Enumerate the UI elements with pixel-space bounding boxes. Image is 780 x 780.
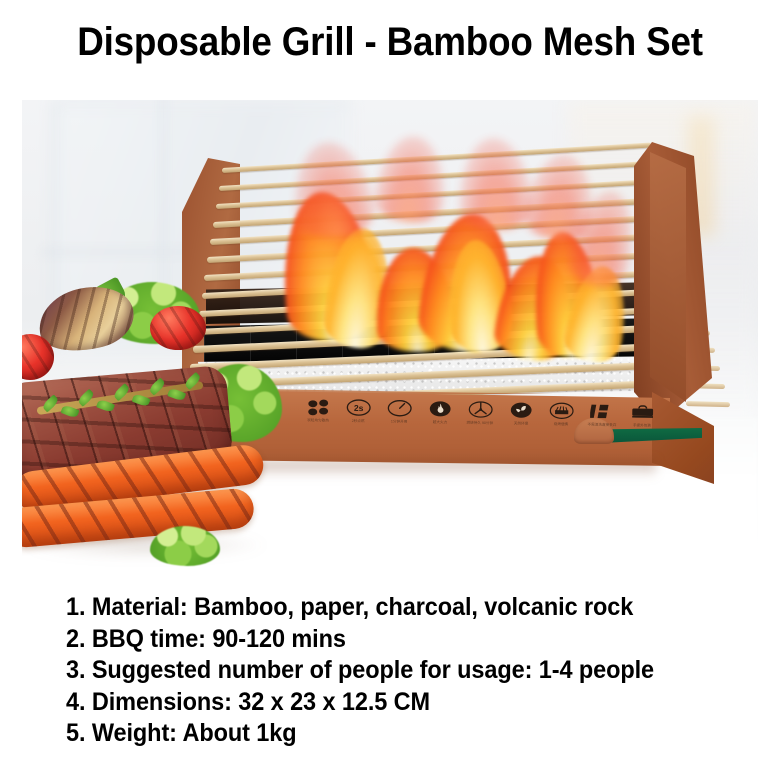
box-icon-cell: 2s2秒点燃 bbox=[340, 398, 376, 424]
page-title: Disposable Grill - Bamboo Mesh Set bbox=[31, 16, 749, 68]
specification-list: 1. Material: Bamboo, paper, charcoal, vo… bbox=[66, 592, 766, 750]
box-icon-caption: 不需清洗直接丢弃 bbox=[587, 423, 616, 428]
box-icon-cell: 不需清洗直接丢弃 bbox=[583, 402, 619, 428]
grill-icon bbox=[548, 401, 574, 420]
box-icon-cell: 烧烤便携 bbox=[543, 401, 579, 427]
fan-icon bbox=[467, 400, 493, 419]
spec-line: 2. BBQ time: 90-120 mins bbox=[66, 624, 724, 656]
box-icon-cell: 手提外包装 bbox=[624, 402, 660, 428]
case-icon bbox=[629, 402, 655, 421]
lettuce-bottom bbox=[150, 526, 220, 566]
product-listing-page: Disposable Grill - Bamboo Mesh Set bbox=[0, 0, 780, 780]
food-arrangement bbox=[22, 282, 310, 568]
tomato-grill-marks bbox=[150, 306, 206, 350]
box-icon-cell: 1分钟开用 bbox=[381, 398, 417, 424]
svg-text:2s: 2s bbox=[354, 403, 364, 413]
box-icon-cell: 超大火力 bbox=[421, 399, 457, 425]
spec-line: 4. Dimensions: 32 x 23 x 12.5 CM bbox=[66, 687, 724, 719]
box-icon-caption: 烧烤便携 bbox=[554, 422, 568, 426]
box-icon-strip: 炭粒均匀散热2s2秒点燃1分钟开用超大火力燃烧持久 90分钟天然环保烧烤便携不需… bbox=[300, 397, 661, 447]
leaf-icon bbox=[508, 400, 534, 419]
timer-icon bbox=[386, 399, 412, 418]
box-icon-cell: 燃烧持久 90分钟 bbox=[462, 400, 498, 426]
tomato-top bbox=[150, 306, 206, 350]
bamboo-skewer-tip bbox=[686, 401, 730, 407]
cardboard-rail-right-face bbox=[650, 152, 686, 402]
spec-line: 1. Material: Bamboo, paper, charcoal, vo… bbox=[66, 592, 724, 624]
bars-icon bbox=[589, 402, 615, 421]
box-icon-caption: 手提外包装 bbox=[633, 424, 651, 428]
product-photo: 炭粒均匀散热2s2秒点燃1分钟开用超大火力燃烧持久 90分钟天然环保烧烤便携不需… bbox=[22, 100, 758, 568]
box-icon-caption: 炭粒均匀散热 bbox=[307, 419, 329, 423]
box-icon-cell: 天然环保 bbox=[502, 400, 538, 426]
box-icon-caption: 燃烧持久 90分钟 bbox=[467, 421, 494, 425]
box-icon-caption: 天然环保 bbox=[513, 422, 527, 426]
box-icon-caption: 超大火力 bbox=[432, 420, 446, 424]
box-icon-caption: 2秒点燃 bbox=[352, 419, 365, 423]
two-seconds-badge: 2s bbox=[346, 398, 372, 417]
spec-line: 3. Suggested number of people for usage:… bbox=[66, 655, 724, 687]
box-icon-caption: 1分钟开用 bbox=[391, 420, 407, 424]
spec-line: 5. Weight: About 1kg bbox=[66, 718, 724, 750]
flame-icon bbox=[427, 399, 453, 418]
